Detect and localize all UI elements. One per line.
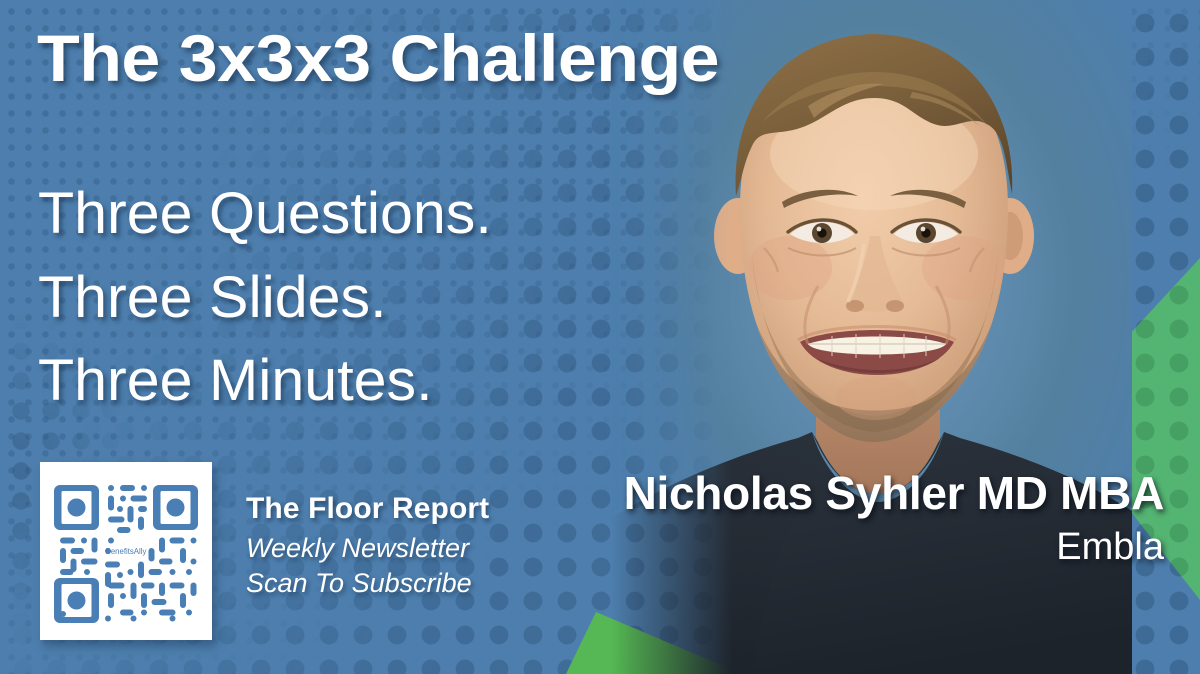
page-title: The 3x3x3 Challenge <box>37 24 917 93</box>
newsletter-title: The Floor Report <box>246 494 489 524</box>
speaker-announcement-slide: The 3x3x3 Challenge Three Questions. Thr… <box>0 0 1200 674</box>
subheadline-line-1: Three Questions. <box>38 172 492 256</box>
speaker-portrait-photo <box>612 0 1132 674</box>
newsletter-brand-block: The Floor Report Weekly Newsletter Scan … <box>246 494 489 597</box>
newsletter-cta: Scan To Subscribe <box>246 570 489 597</box>
qr-code-icon: BenefitsAlly <box>51 474 201 628</box>
speaker-name: Nicholas Syhler MD MBA <box>624 466 1164 520</box>
speaker-credit-block: Nicholas Syhler MD MBA Embla <box>624 466 1164 569</box>
subheadline-line-3: Three Minutes. <box>38 339 492 423</box>
subheadline-line-2: Three Slides. <box>38 256 492 340</box>
speaker-organization: Embla <box>624 526 1164 569</box>
qr-code-card[interactable]: BenefitsAlly <box>40 462 212 640</box>
qr-center-label: BenefitsAlly <box>106 547 147 556</box>
subheadline-block: Three Questions. Three Slides. Three Min… <box>38 172 492 423</box>
newsletter-subtitle: Weekly Newsletter <box>246 535 489 562</box>
